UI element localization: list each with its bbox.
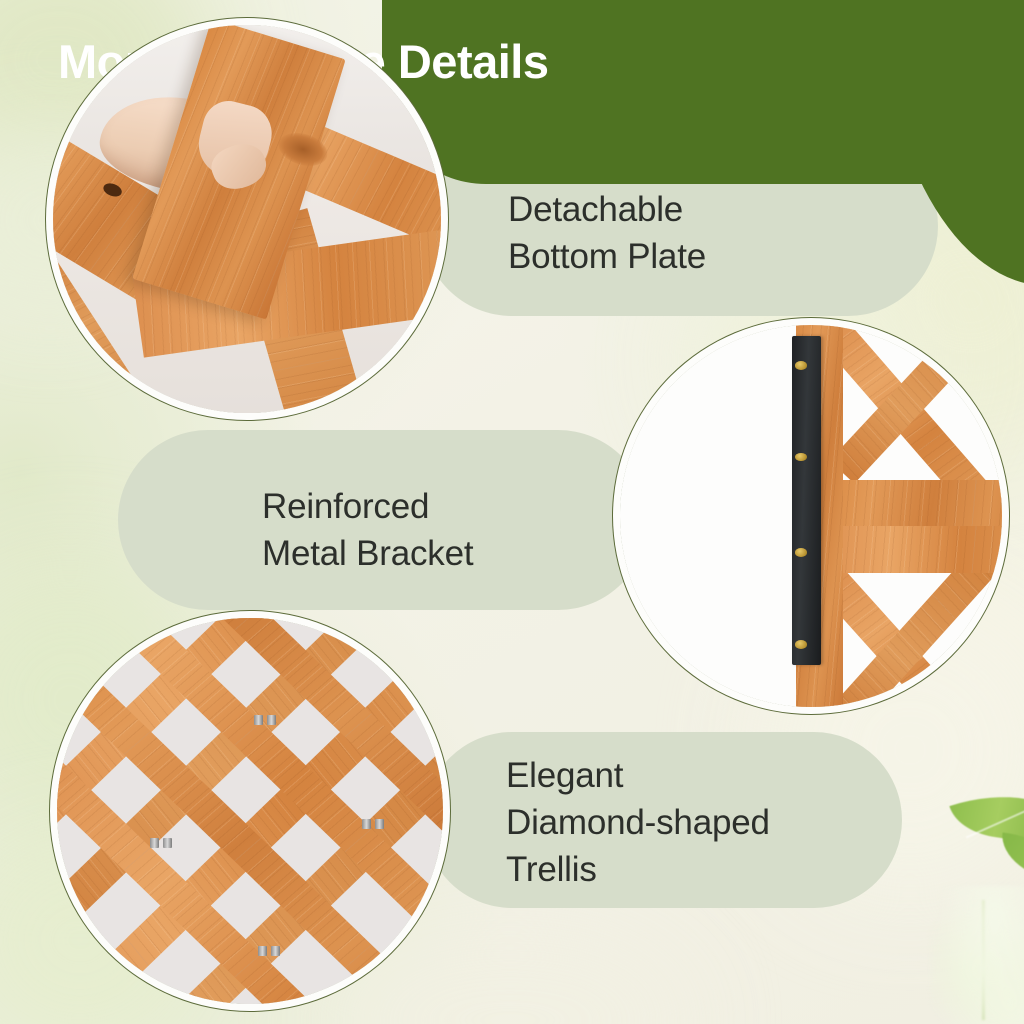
feature-photo-reinforced-metal-bracket	[620, 325, 1002, 707]
staple	[271, 946, 280, 956]
feature-label-reinforced-metal-bracket: Reinforced Metal Bracket	[262, 483, 473, 577]
header-banner	[382, 0, 1024, 184]
photo-content	[620, 325, 1002, 707]
white-flower-cluster	[930, 886, 1024, 1024]
staple	[362, 819, 371, 829]
feature-label-detachable-bottom-plate: Detachable Bottom Plate	[508, 186, 706, 280]
staple	[267, 715, 276, 725]
staple	[375, 819, 384, 829]
infographic-canvas: More Exquisite Details Detachable Bottom…	[0, 0, 1024, 1024]
brass-screw	[795, 548, 807, 556]
brass-screw	[795, 361, 807, 369]
staple	[258, 946, 267, 956]
staple	[254, 715, 263, 725]
metal-bracket	[792, 336, 821, 665]
feature-label-elegant-diamond-shaped-trellis: Elegant Diamond-shaped Trellis	[506, 752, 770, 893]
horizontal-rail	[822, 526, 1002, 574]
feature-photo-elegant-diamond-shaped-trellis	[57, 618, 443, 1004]
photo-content	[57, 618, 443, 1004]
feature-photo-detachable-bottom-plate	[53, 25, 441, 413]
horizontal-rail	[822, 480, 1002, 528]
brass-screw	[795, 640, 807, 648]
staple	[150, 838, 159, 848]
staple	[163, 838, 172, 848]
photo-content	[53, 25, 441, 413]
